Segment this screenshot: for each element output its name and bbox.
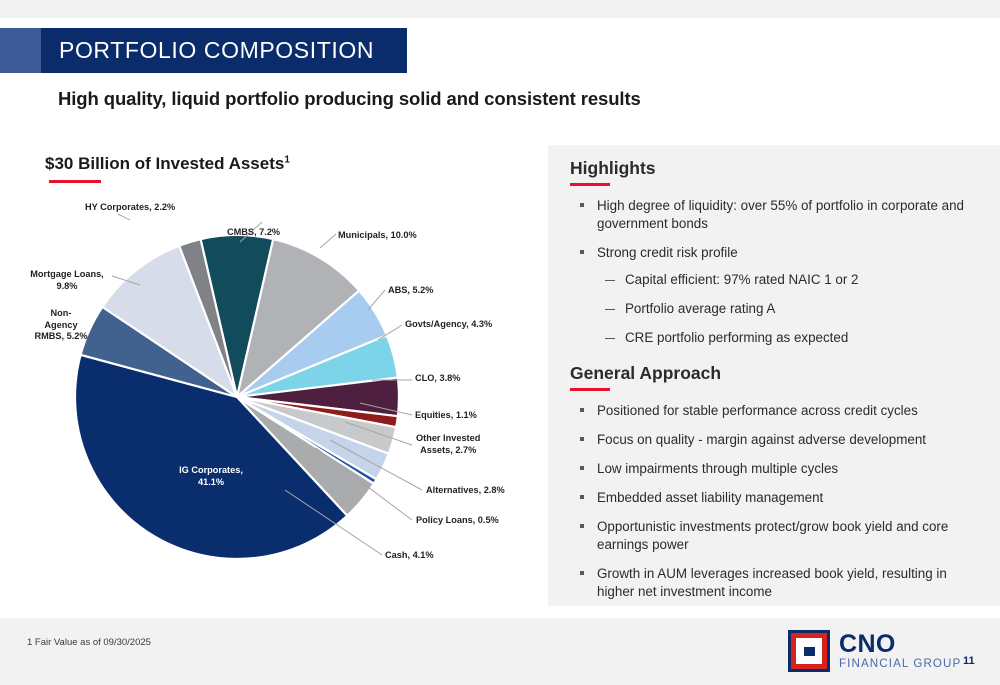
pie-chart: CMBS, 7.2% Municipals, 10.0% ABS, 5.2% G… xyxy=(0,190,548,585)
highlights-bullet-2-text: Strong credit risk profile xyxy=(597,245,738,260)
pie-label-municipals: Municipals, 10.0% xyxy=(338,230,417,242)
header-title-block: PORTFOLIO COMPOSITION xyxy=(41,28,407,73)
pie-leader-line xyxy=(368,290,385,310)
page-title: PORTFOLIO COMPOSITION xyxy=(59,37,374,64)
pie-label-cash: Cash, 4.1% xyxy=(385,550,434,562)
pie-label-non-agency-rmbs: Non- Agency RMBS, 5.2% xyxy=(30,308,92,343)
pie-label-hy-corporates: HY Corporates, 2.2% xyxy=(85,202,175,214)
slide-subtitle: High quality, liquid portfolio producing… xyxy=(58,88,641,110)
general-approach-bullet-6: Growth in AUM leverages increased book y… xyxy=(570,565,978,601)
pie-label-mortgage-loans: Mortgage Loans, 9.8% xyxy=(25,269,109,292)
general-approach-heading-underline xyxy=(570,388,610,391)
pie-label-clo: CLO, 3.8% xyxy=(415,373,460,385)
pie-label-alternatives: Alternatives, 2.8% xyxy=(426,485,505,497)
pie-label-abs: ABS, 5.2% xyxy=(388,285,433,297)
chart-heading-footnote-marker: 1 xyxy=(284,154,290,165)
general-approach-heading: General Approach xyxy=(570,363,978,384)
general-approach-bullet-3: Low impairments through multiple cycles xyxy=(570,460,978,478)
pie-leader-line xyxy=(320,234,336,248)
highlights-sub-bullet-list: Capital efficient: 97% rated NAIC 1 or 2… xyxy=(597,271,978,347)
highlights-section: Highlights High degree of liquidity: ove… xyxy=(548,158,1000,358)
general-approach-bullet-1: Positioned for stable performance across… xyxy=(570,402,978,420)
cno-logo-text: CNO FINANCIAL GROUP xyxy=(839,632,961,670)
pie-leader-line xyxy=(118,214,130,220)
pie-label-govts-agency: Govts/Agency, 4.3% xyxy=(405,319,492,331)
highlights-bullet-2: Strong credit risk profile Capital effic… xyxy=(570,244,978,347)
general-approach-section: General Approach Positioned for stable p… xyxy=(548,363,1000,612)
highlights-sub-bullet-2: Portfolio average rating A xyxy=(597,300,978,318)
cno-logo-red-band xyxy=(791,633,827,669)
pie-label-cmbs: CMBS, 7.2% xyxy=(227,227,280,239)
general-approach-bullet-list: Positioned for stable performance across… xyxy=(570,402,978,602)
cno-logo-tagline: FINANCIAL GROUP xyxy=(839,658,961,670)
pie-leader-line xyxy=(330,440,422,490)
cno-logo: CNO FINANCIAL GROUP xyxy=(788,630,961,672)
general-approach-bullet-5: Opportunistic investments protect/grow b… xyxy=(570,518,978,554)
highlights-bullet-1: High degree of liquidity: over 55% of po… xyxy=(570,197,978,233)
cno-logo-white-band xyxy=(796,638,822,664)
chart-heading-underline xyxy=(49,180,101,183)
highlights-heading-underline xyxy=(570,183,610,186)
chart-heading: $30 Billion of Invested Assets1 xyxy=(45,154,290,174)
pie-leader-line xyxy=(378,325,402,340)
right-info-panel: Highlights High degree of liquidity: ove… xyxy=(548,145,1000,606)
pie-leader-line xyxy=(345,422,412,445)
page-number: 11 xyxy=(963,655,975,667)
slide-header-band: PORTFOLIO COMPOSITION xyxy=(0,28,407,73)
general-approach-bullet-4: Embedded asset liability management xyxy=(570,489,978,507)
highlights-heading: Highlights xyxy=(570,158,978,179)
slide-footnote: 1 Fair Value as of 09/30/2025 xyxy=(27,637,151,648)
cno-logo-mark-icon xyxy=(788,630,830,672)
highlights-sub-bullet-3: CRE portfolio performing as expected xyxy=(597,329,978,347)
highlights-sub-bullet-1: Capital efficient: 97% rated NAIC 1 or 2 xyxy=(597,271,978,289)
chart-heading-text: $30 Billion of Invested Assets xyxy=(45,154,284,173)
cno-logo-name: CNO xyxy=(839,632,961,657)
pie-leader-line xyxy=(285,490,382,555)
pie-label-equities: Equities, 1.1% xyxy=(415,410,477,422)
cno-logo-center-dot xyxy=(804,647,815,656)
pie-label-ig-corporates: IG Corporates, 41.1% xyxy=(166,465,256,488)
highlights-bullet-list: High degree of liquidity: over 55% of po… xyxy=(570,197,978,348)
pie-leader-line xyxy=(112,276,140,285)
pie-label-other-invested-assets: Other Invested Assets, 2.7% xyxy=(416,433,480,456)
pie-label-policy-loans: Policy Loans, 0.5% xyxy=(416,515,499,527)
general-approach-bullet-2: Focus on quality - margin against advers… xyxy=(570,431,978,449)
header-accent-block xyxy=(0,28,41,73)
pie-leader-line xyxy=(360,403,412,415)
